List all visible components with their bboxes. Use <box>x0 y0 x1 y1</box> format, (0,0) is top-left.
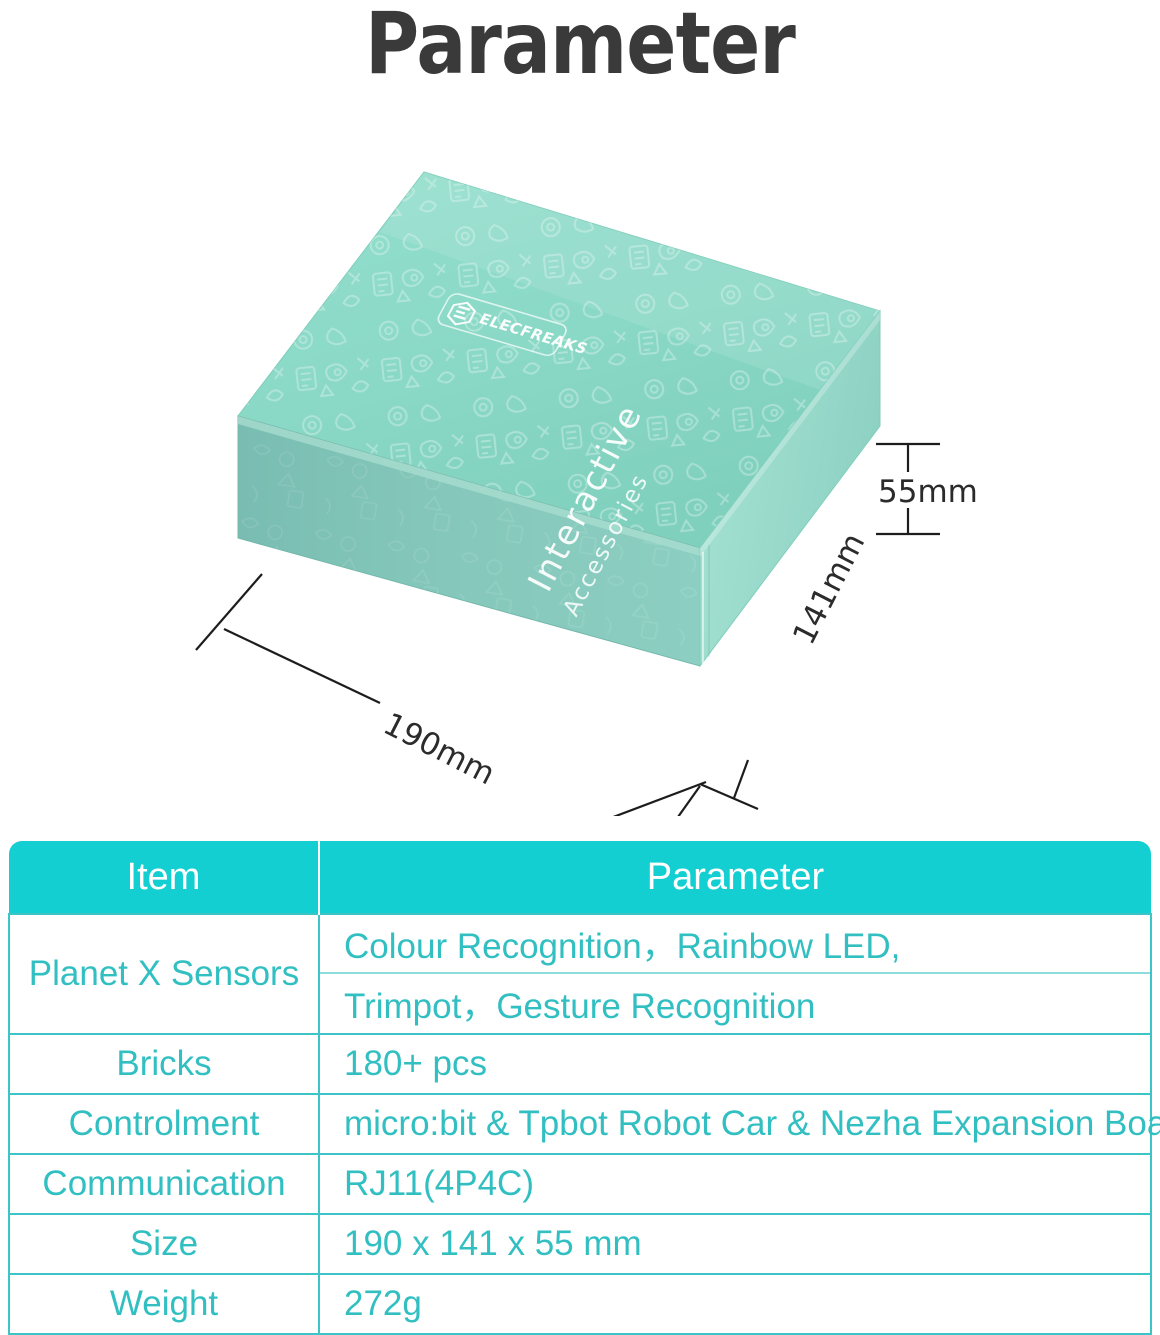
dim-line-141 <box>706 709 848 781</box>
row-value-controlment: micro:bit & Tpbot Robot Car & Nezha Expa… <box>319 1094 1151 1154</box>
product-image: ELECFREAKS ELECFREAKS MAKE EDUCATION EAS… <box>0 96 1160 816</box>
row-value-bricks: 180+ pcs <box>319 1034 1151 1094</box>
row-label-size: Size <box>9 1214 319 1274</box>
row-label-controlment: Controlment <box>9 1094 319 1154</box>
box-front-logo: ELECFREAKS MAKE EDUCATION EASIER <box>381 616 599 715</box>
row-label-weight: Weight <box>9 1274 319 1334</box>
table-row: Communication RJ11(4P4C) <box>9 1154 1151 1214</box>
ef-hex-icon-front <box>383 616 420 655</box>
table-row: Planet X Sensors Colour Recognition，Rain… <box>9 914 1151 1034</box>
page-title: Parameter <box>81 0 1079 94</box>
sensor-line-2: Trimpot，Gesture Recognition <box>320 974 1150 1033</box>
box-illustration: ELECFREAKS ELECFREAKS MAKE EDUCATION EAS… <box>0 96 1160 816</box>
table-header-item: Item <box>9 841 319 914</box>
table-row: Size 190 x 141 x 55 mm <box>9 1214 1151 1274</box>
table-row: Weight 272g <box>9 1274 1151 1334</box>
table-header-row: Item Parameter <box>9 841 1151 914</box>
sensor-line-1: Colour Recognition，Rainbow LED, <box>320 915 1150 974</box>
row-value-planet-x-sensors: Colour Recognition，Rainbow LED, Trimpot，… <box>319 914 1151 1034</box>
row-value-weight: 272g <box>319 1274 1151 1334</box>
table-header-parameter: Parameter <box>319 841 1151 914</box>
dim-line-141-lower <box>700 784 758 809</box>
parameter-table: Item Parameter Planet X Sensors Colour R… <box>8 841 1152 1335</box>
dimension-label-height: 55mm <box>878 474 978 510</box>
dim-tick-left <box>196 574 262 650</box>
row-label-communication: Communication <box>9 1154 319 1214</box>
table-row: Controlment micro:bit & Tpbot Robot Car … <box>9 1094 1151 1154</box>
row-value-communication: RJ11(4P4C) <box>319 1154 1151 1214</box>
row-label-planet-x-sensors: Planet X Sensors <box>9 914 319 1034</box>
dim-line-190 <box>224 629 380 703</box>
table-row: Bricks 180+ pcs <box>9 1034 1151 1094</box>
row-value-size: 190 x 141 x 55 mm <box>319 1214 1151 1274</box>
row-label-bricks: Bricks <box>9 1034 319 1094</box>
